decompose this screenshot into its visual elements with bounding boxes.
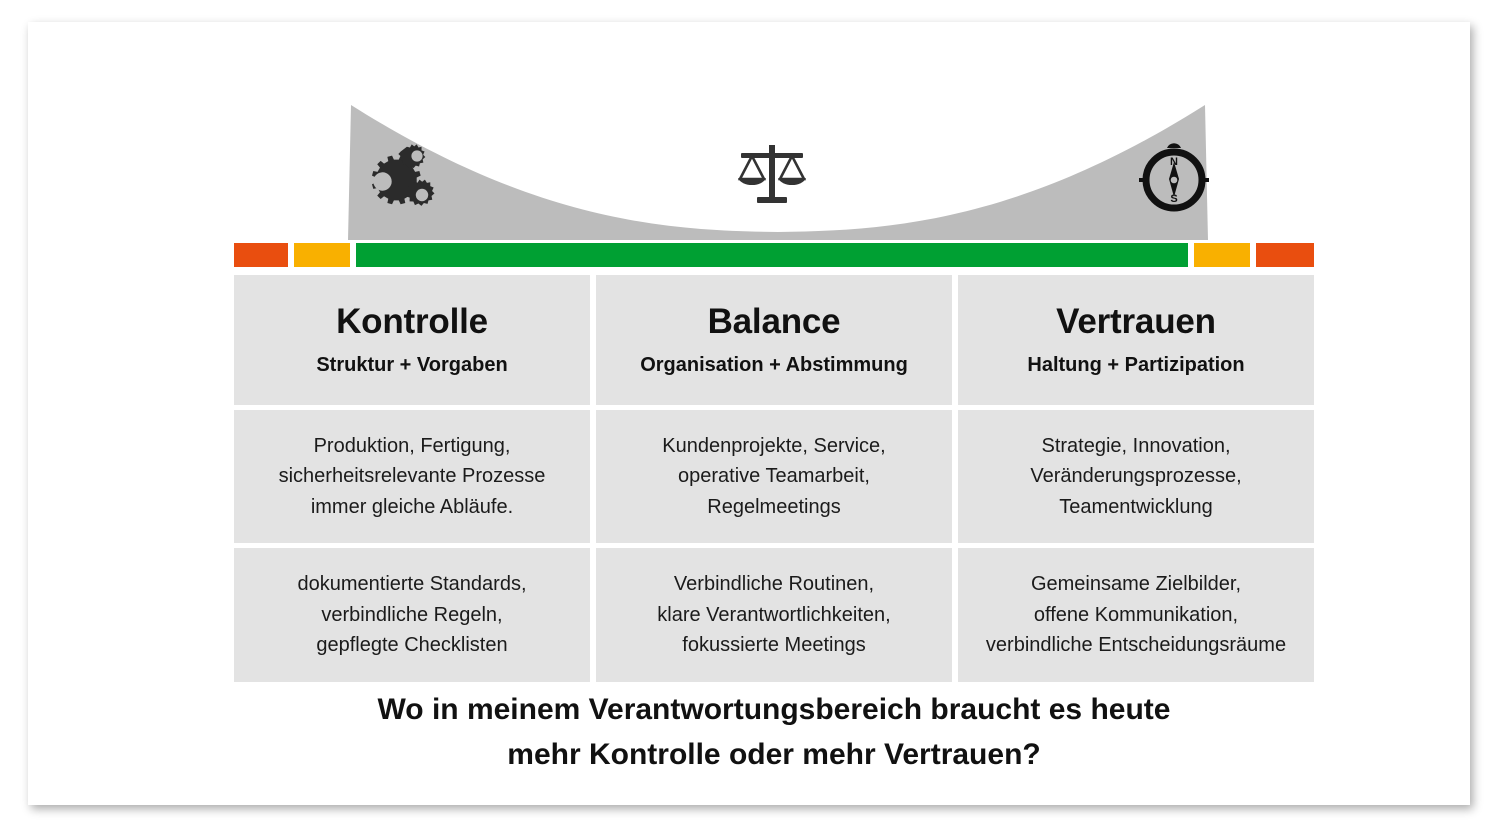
gears-icon	[350, 134, 446, 216]
compass-icon: N S	[1130, 134, 1218, 214]
scales-icon	[733, 140, 811, 208]
pillar-practice-kontrolle: dokumentierte Standards, verbindliche Re…	[234, 548, 590, 682]
status-ribbon	[234, 243, 1314, 267]
pillar-practice-vertrauen: Gemeinsame Zielbilder, offene Kommunikat…	[958, 548, 1314, 682]
practice-line: offene Kommunikation,	[986, 600, 1286, 630]
infographic-canvas: N S Kontrolle Struktur + Vorgaben	[0, 0, 1500, 831]
segment-red-left	[234, 243, 288, 267]
pillar-subtitle: Organisation + Abstimmung	[640, 354, 908, 376]
practice-line: verbindliche Entscheidungsräume	[986, 630, 1286, 660]
pillar-subtitle: Haltung + Partizipation	[1027, 354, 1244, 376]
practice-line: verbindliche Regeln,	[297, 600, 526, 630]
practice-line: gepflegte Checklisten	[297, 630, 526, 660]
pillar-title: Vertrauen	[1056, 304, 1216, 341]
practice-line: klare Verantwortlichkeiten,	[657, 600, 890, 630]
closing-question: Wo in meinem Verantwortungsbereich brauc…	[234, 687, 1314, 777]
pillar-subtitle: Struktur + Vorgaben	[316, 354, 507, 376]
context-text: Produktion, Fertigung, sicherheitsreleva…	[279, 431, 546, 522]
pillar-context-balance: Kundenprojekte, Service, operative Teama…	[596, 410, 952, 543]
context-line: Veränderungsprozesse,	[1030, 461, 1241, 491]
question-line-1: Wo in meinem Verantwortungsbereich brauc…	[234, 687, 1314, 732]
segment-green-center	[356, 243, 1188, 267]
pillar-header-vertrauen: Vertrauen Haltung + Partizipation	[958, 275, 1314, 405]
practice-line: fokussierte Meetings	[657, 630, 890, 660]
pillars-grid: Kontrolle Struktur + Vorgaben Balance Or…	[234, 275, 1314, 672]
context-text: Kundenprojekte, Service, operative Teama…	[662, 431, 885, 522]
segment-red-right	[1256, 243, 1314, 267]
context-line: Produktion, Fertigung,	[279, 431, 546, 461]
pillar-title: Balance	[708, 304, 841, 341]
segment-orange-right	[1194, 243, 1250, 267]
pillar-header-kontrolle: Kontrolle Struktur + Vorgaben	[234, 275, 590, 405]
practice-text: Verbindliche Routinen, klare Verantwortl…	[657, 569, 890, 660]
pillar-header-balance: Balance Organisation + Abstimmung	[596, 275, 952, 405]
context-line: immer gleiche Abläufe.	[279, 492, 546, 522]
pillar-context-kontrolle: Produktion, Fertigung, sicherheitsreleva…	[234, 410, 590, 543]
practice-line: Verbindliche Routinen,	[657, 569, 890, 599]
practice-line: Gemeinsame Zielbilder,	[986, 569, 1286, 599]
practice-line: dokumentierte Standards,	[297, 569, 526, 599]
practice-text: Gemeinsame Zielbilder, offene Kommunikat…	[986, 569, 1286, 660]
context-line: sicherheitsrelevante Prozesse	[279, 461, 546, 491]
context-line: Strategie, Innovation,	[1030, 431, 1241, 461]
pillar-context-vertrauen: Strategie, Innovation, Veränderungsproze…	[958, 410, 1314, 543]
question-line-2: mehr Kontrolle oder mehr Vertrauen?	[234, 732, 1314, 777]
pillar-title: Kontrolle	[336, 304, 488, 341]
context-line: operative Teamarbeit,	[662, 461, 885, 491]
context-text: Strategie, Innovation, Veränderungsproze…	[1030, 431, 1241, 522]
segment-orange-left	[294, 243, 350, 267]
context-line: Regelmeetings	[662, 492, 885, 522]
pillar-practice-balance: Verbindliche Routinen, klare Verantwortl…	[596, 548, 952, 682]
context-line: Teamentwicklung	[1030, 492, 1241, 522]
context-line: Kundenprojekte, Service,	[662, 431, 885, 461]
slide-card: N S Kontrolle Struktur + Vorgaben	[28, 22, 1470, 805]
practice-text: dokumentierte Standards, verbindliche Re…	[297, 569, 526, 660]
